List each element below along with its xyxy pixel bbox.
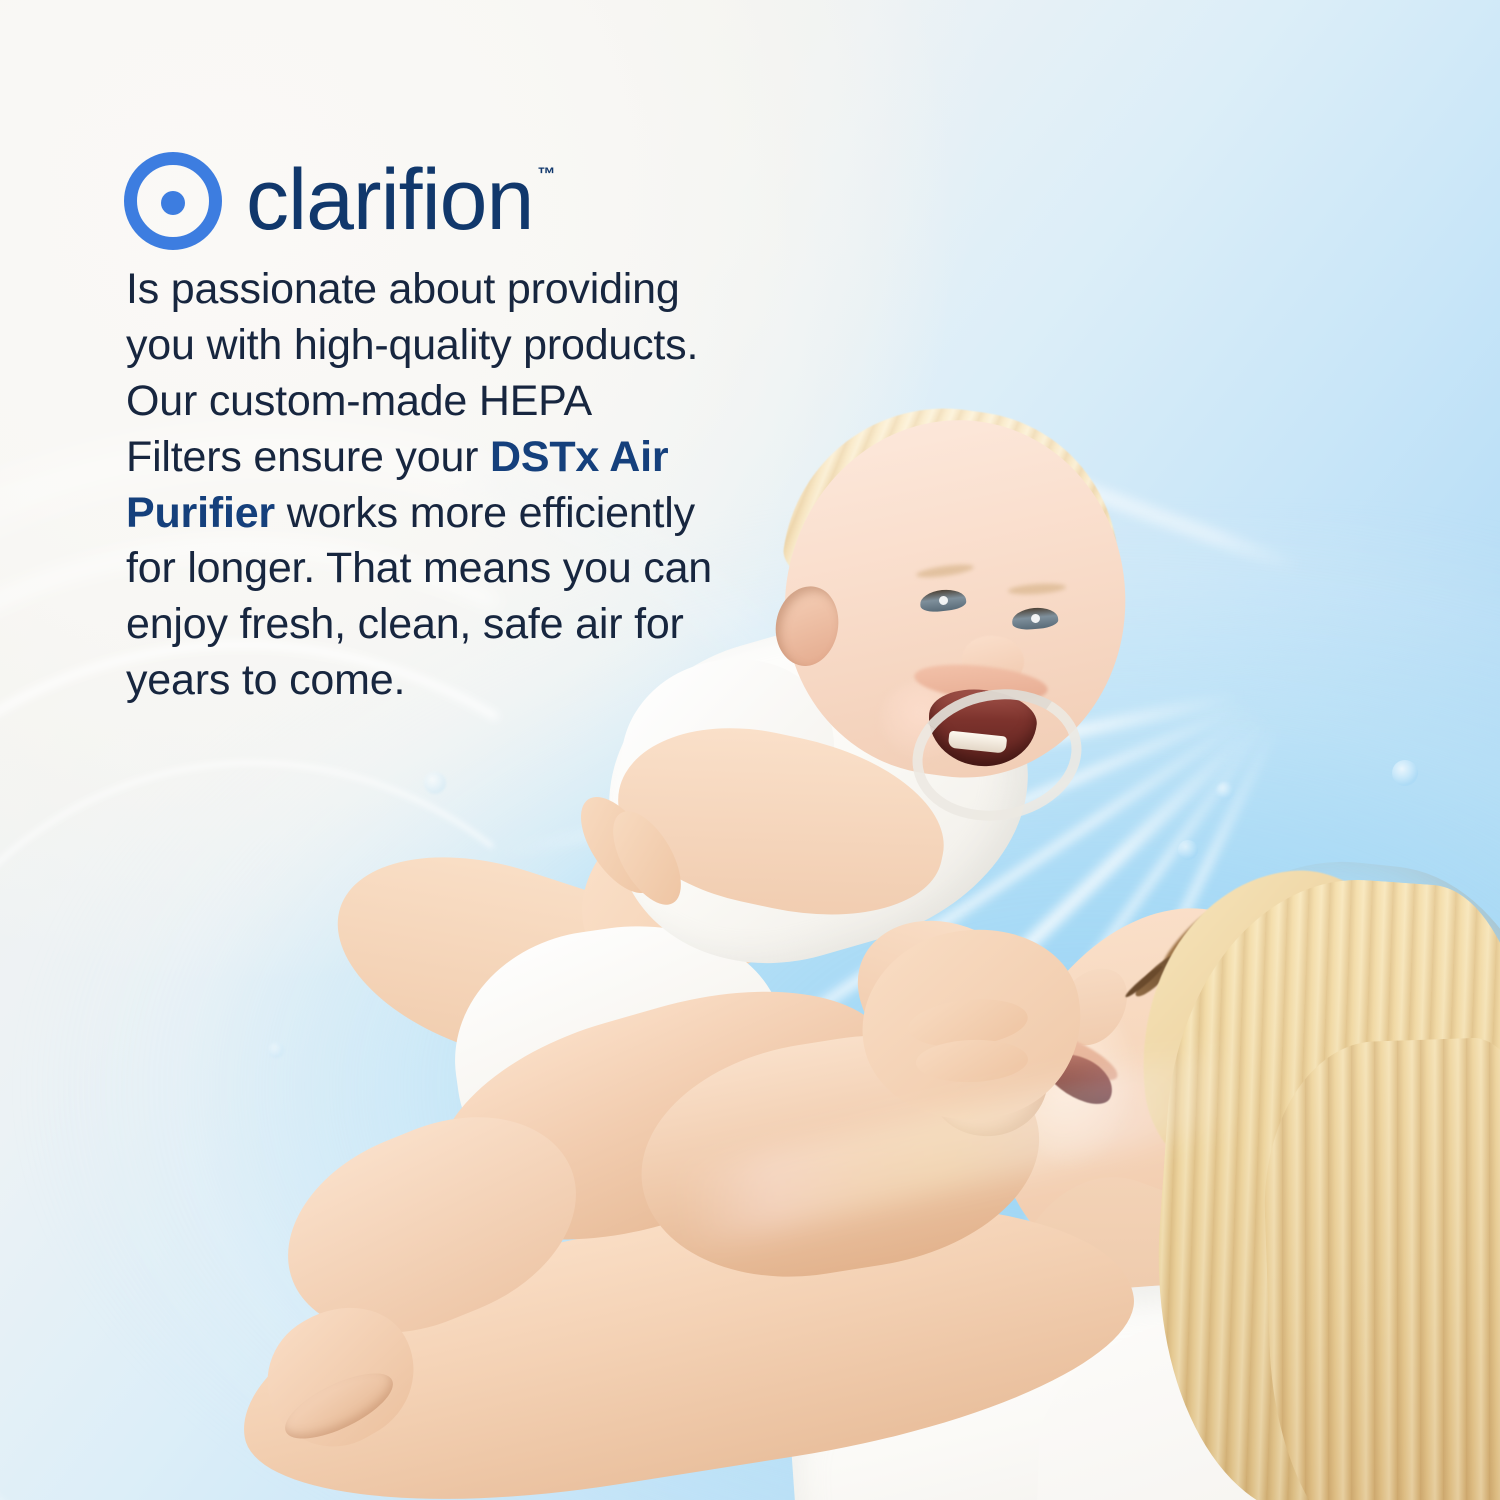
copy-text: Is passionate about providing (126, 265, 680, 313)
marketing-copy: Is passionate about providing you with h… (126, 262, 786, 709)
promo-image-canvas: clarifion™ Is passionate about providing… (0, 0, 1500, 1500)
logo-center-dot (161, 191, 185, 215)
copy-line: Filters ensure your DSTx Air (126, 430, 786, 486)
copy-line: Our custom-made HEPA (126, 374, 786, 430)
copy-line: Is passionate about providing (126, 262, 786, 318)
copy-text: enjoy fresh, clean, safe air for (126, 600, 684, 648)
brand-name-text: clarifion (246, 152, 533, 248)
brand-wordmark: clarifion™ (246, 162, 533, 239)
copy-line: Purifier works more efficiently (126, 486, 786, 542)
copy-emphasis: DSTx Air (490, 433, 668, 481)
mother-hair-tail (1259, 1035, 1500, 1500)
copy-text: works more efficiently (275, 489, 695, 537)
copy-text: for longer. That means you can (126, 544, 712, 592)
copy-text: Our custom-made HEPA (126, 377, 592, 425)
copy-text: years to come. (126, 656, 405, 704)
copy-line: enjoy fresh, clean, safe air for (126, 597, 786, 653)
copy-line: years to come. (126, 653, 786, 709)
copy-line: you with high-quality products. (126, 318, 786, 374)
copy-line: for longer. That means you can (126, 541, 786, 597)
ring-dot-icon (124, 152, 222, 250)
trademark-symbol: ™ (537, 166, 555, 182)
brand-logo[interactable]: clarifion™ (124, 152, 533, 250)
copy-emphasis: Purifier (126, 489, 275, 537)
copy-text: Filters ensure your (126, 433, 490, 481)
copy-text: you with high-quality products. (126, 321, 698, 369)
